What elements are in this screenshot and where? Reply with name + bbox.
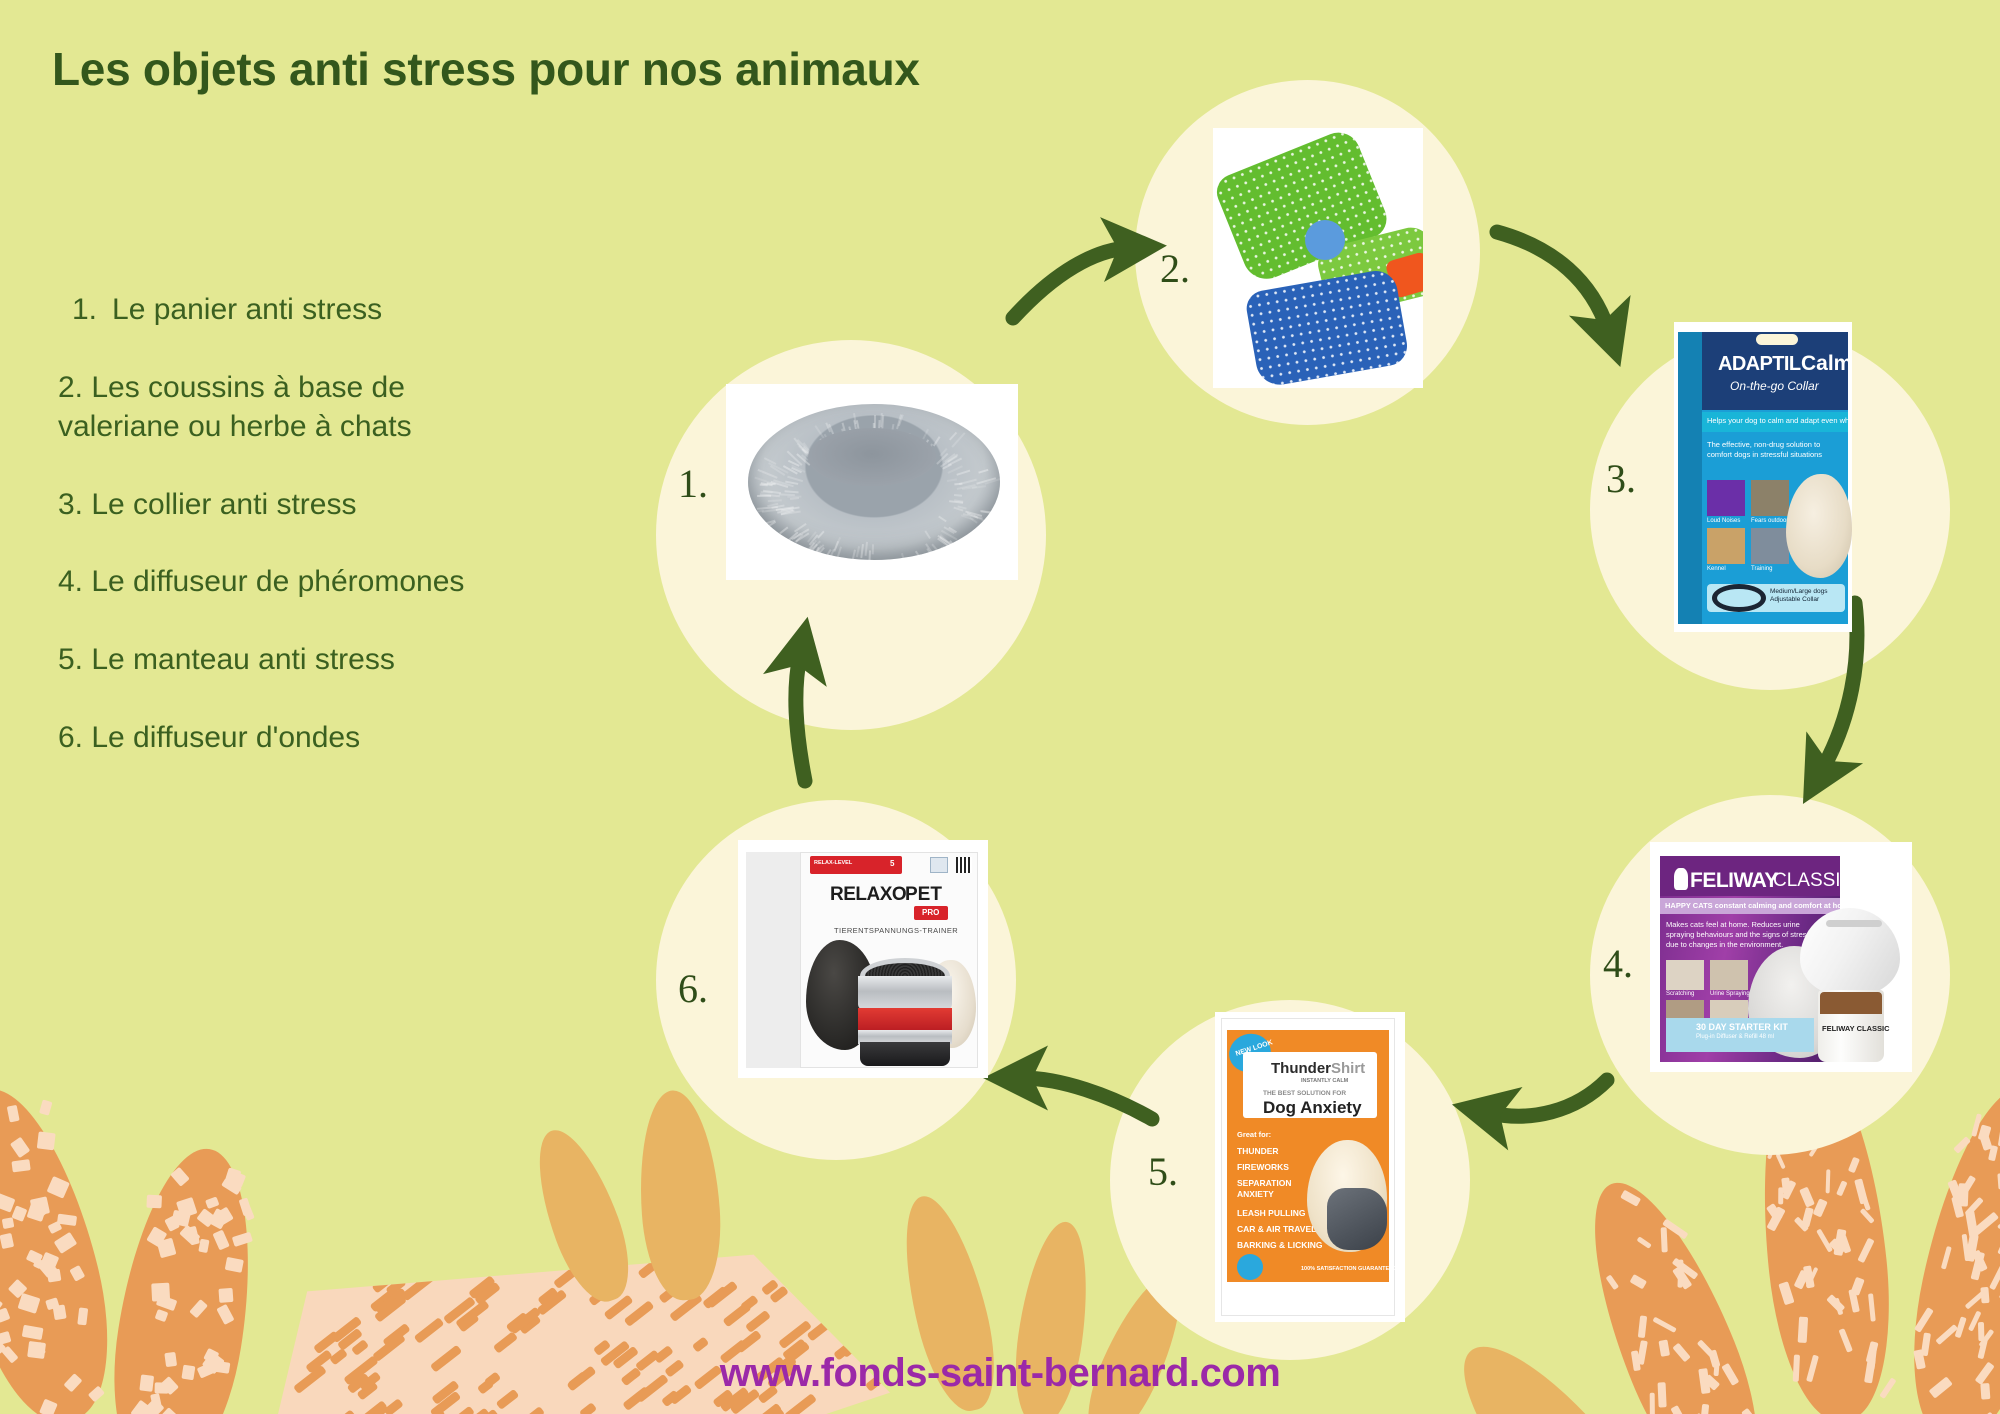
- leaf-speck: [147, 1226, 168, 1248]
- thundershirt-bullet-2: FIREWORKS: [1237, 1162, 1289, 1172]
- leaf-speck: [225, 1257, 244, 1273]
- leaf-speck: [1620, 1190, 1641, 1207]
- thundershirt-vet-badge: [1237, 1254, 1263, 1280]
- dash-mark: [553, 1266, 579, 1289]
- dash-mark: [506, 1312, 530, 1333]
- leaf-speck: [0, 1294, 2, 1316]
- list-item-3: 3. Le collier anti stress: [58, 485, 618, 525]
- leaf-speck: [171, 1209, 190, 1226]
- decorative-foliage-left: [0, 930, 470, 1414]
- relaxopet-speaker-body: [858, 976, 952, 1010]
- list-item-4: 4. Le diffuseur de phéromones: [58, 562, 618, 602]
- dash-mark: [371, 1268, 401, 1294]
- leaf-speck: [1700, 1404, 1709, 1414]
- leaf-speck: [39, 1398, 58, 1414]
- thundershirt-bullet-5: CAR & AIR TRAVEL: [1237, 1224, 1316, 1234]
- leaf-speck: [241, 1204, 254, 1221]
- fur-strand: [905, 557, 911, 571]
- leaf-speck: [1826, 1169, 1831, 1193]
- leaf-speck: [47, 1176, 70, 1198]
- adaptil-thumb-fears: [1751, 480, 1789, 516]
- leaf-speck: [1826, 1294, 1845, 1313]
- relaxopet-brand-relaxo: RELAXO: [830, 884, 906, 906]
- leaf-speck: [48, 1220, 63, 1233]
- dash-mark: [443, 1296, 476, 1324]
- website-url[interactable]: www.fonds-saint-bernard.com: [0, 1351, 2000, 1396]
- relaxopet-variant: PRO: [922, 908, 939, 917]
- dash-mark: [702, 1285, 729, 1309]
- leaf-speck: [1662, 1219, 1689, 1241]
- fur-strand: [981, 510, 999, 515]
- dash-mark: [722, 1301, 751, 1327]
- list-item-5: 5. Le manteau anti stress: [58, 640, 618, 680]
- adaptil-hang-hole: [1756, 334, 1798, 345]
- dash-mark: [277, 1279, 308, 1306]
- leaf-speck: [12, 1159, 31, 1173]
- dash-mark: [538, 1287, 559, 1306]
- adaptil-thumb-loud-noises: [1707, 480, 1745, 516]
- leaf-speck: [8, 1279, 28, 1299]
- dash-mark: [337, 1329, 363, 1352]
- dash-mark: [383, 1399, 404, 1414]
- thundershirt-vest: [1327, 1188, 1387, 1250]
- leaf-speck: [0, 1317, 3, 1333]
- leaf-speck: [1848, 1157, 1860, 1174]
- relaxopet-level-label: RELAX-LEVEL: [814, 860, 852, 866]
- leaf-speck: [1, 1217, 13, 1229]
- leaf-speck: [1801, 1207, 1813, 1227]
- dash-mark: [778, 1320, 812, 1349]
- fur-strand: [864, 542, 867, 556]
- fur-strand: [884, 566, 889, 580]
- leaf-speck: [39, 1259, 58, 1278]
- fur-strand: [818, 530, 826, 538]
- dash-mark: [759, 1403, 782, 1414]
- leaf-speck: [1968, 1311, 1981, 1332]
- leaf-speck: [130, 1400, 153, 1414]
- leaf-speck: [1672, 1257, 1699, 1279]
- fur-strand: [788, 495, 802, 497]
- leaf-speck: [218, 1288, 233, 1303]
- leaf-speck: [1778, 1187, 1783, 1205]
- leaf-speck: [1988, 1145, 1998, 1161]
- leaf-speck: [1965, 1210, 1978, 1238]
- dash-mark: [827, 1265, 857, 1291]
- fur-strand: [954, 494, 962, 497]
- relaxopet-subtitle: TIERENTSPANNUNGS-TRAINER: [834, 926, 958, 935]
- dash-mark: [807, 1316, 837, 1342]
- adaptil-collar-loop: [1712, 584, 1766, 612]
- fur-strand: [947, 478, 957, 482]
- leaf-speck: [1965, 1234, 1978, 1262]
- dash-mark: [603, 1294, 633, 1320]
- thundershirt-bullet-1: THUNDER: [1237, 1146, 1279, 1156]
- dash-mark: [455, 1300, 490, 1330]
- leaf-speck: [197, 1209, 217, 1228]
- fur-strand: [767, 499, 781, 502]
- leaf-speck: [22, 1325, 44, 1340]
- dash-mark: [385, 1277, 406, 1296]
- dash-mark: [324, 1410, 356, 1414]
- leaf-speck: [1767, 1206, 1786, 1231]
- dash-mark: [864, 1400, 881, 1414]
- leaf-speck: [1979, 1134, 1992, 1151]
- adaptil-variant: Calm: [1801, 352, 1852, 376]
- fur-strand: [957, 469, 971, 475]
- relaxopet-brand-pet: PET: [905, 884, 942, 906]
- fur-strand: [933, 436, 940, 446]
- leaf-speck: [176, 1197, 197, 1218]
- thundershirt-guarantee: 100% SATISFACTION GUARANTEED: [1301, 1266, 1397, 1272]
- dash-mark: [761, 1279, 779, 1296]
- leaf-speck: [0, 1193, 15, 1213]
- thundershirt-bullet-6: BARKING & LICKING: [1237, 1240, 1322, 1250]
- leaf-speck: [1829, 1238, 1847, 1256]
- leaf-speck: [18, 1293, 41, 1314]
- dash-mark: [466, 1407, 490, 1414]
- adaptil-box-spine: [1678, 332, 1704, 624]
- dash-mark: [321, 1250, 349, 1275]
- leaf-speck: [1977, 1125, 1991, 1142]
- feliway-variant: CLASSIC: [1773, 870, 1854, 892]
- leaf-speck: [1951, 1196, 1964, 1218]
- leaf-speck: [1859, 1208, 1874, 1224]
- list-item-6: 6. Le diffuseur d'ondes: [58, 718, 618, 758]
- dash-mark: [413, 1317, 444, 1344]
- feliway-banner-text: HAPPY CATS constant calming and comfort …: [1665, 901, 1853, 910]
- leaf-speck: [152, 1283, 171, 1301]
- dash-mark: [509, 1306, 541, 1334]
- leaf-speck: [1971, 1251, 1985, 1280]
- leaf-speck: [53, 1305, 67, 1321]
- leaf-speck: [39, 1100, 52, 1116]
- adaptil-footnote: Medium/Large dogs Adjustable Collar: [1770, 588, 1844, 604]
- leaf-speck: [225, 1167, 242, 1183]
- dash-mark: [382, 1323, 410, 1348]
- leaf-speck: [1964, 1197, 1984, 1218]
- node-4-image: FELIWAY CLASSIC HAPPY CATS constant calm…: [1650, 842, 1912, 1072]
- dash-mark: [706, 1280, 739, 1308]
- dash-mark: [789, 1251, 817, 1276]
- dash-mark: [417, 1408, 446, 1414]
- adaptil-thumb-label-1: Loud Noises: [1707, 518, 1740, 524]
- node-3-number: 3.: [1606, 455, 1636, 502]
- node-5-number: 5.: [1148, 1148, 1178, 1195]
- dash-mark: [537, 1289, 568, 1316]
- node-5-image: NEW LOOK Thunder Shirt INSTANTLY CALM TH…: [1215, 1012, 1405, 1322]
- leaf-speck: [7, 1105, 20, 1123]
- node-6-number: 6.: [678, 965, 708, 1012]
- leaf-speck: [33, 1258, 44, 1270]
- arrow-4-to-5: [1490, 1080, 1607, 1116]
- list-item-1: 1. Le panier anti stress: [58, 290, 618, 330]
- leaf-speck: [231, 1231, 252, 1246]
- leaf-speck: [1972, 1113, 1983, 1137]
- leaf-speck: [187, 1226, 200, 1245]
- leaf-speck: [26, 1250, 43, 1265]
- page-title: Les objets anti stress pour nos animaux: [52, 42, 920, 96]
- feliway-thumb-urine-spraying: [1710, 960, 1748, 990]
- adaptil-thumb-kennel: [1707, 528, 1745, 564]
- adaptil-dog-photo: [1786, 474, 1852, 578]
- leaf-speck: [1914, 1307, 1934, 1333]
- feliway-brand: FELIWAY: [1690, 869, 1778, 893]
- leaf-speck: [1979, 1329, 1995, 1348]
- dash-mark: [374, 1294, 407, 1322]
- leaf-speck: [0, 1233, 15, 1249]
- dash-mark: [474, 1281, 501, 1305]
- leaf-speck: [0, 1331, 11, 1346]
- adaptil-brand: ADAPTIL: [1718, 353, 1800, 376]
- dash-mark: [588, 1277, 622, 1307]
- dash-mark: [692, 1336, 709, 1352]
- leaf-speck: [10, 1137, 30, 1158]
- leaf-speck: [12, 1205, 28, 1221]
- dash-mark: [831, 1242, 863, 1270]
- leaf-speck: [26, 1202, 46, 1222]
- dash-mark: [843, 1289, 876, 1317]
- thundershirt-brand-shirt: Shirt: [1331, 1060, 1365, 1077]
- thundershirt-brand-thunder: Thunder: [1271, 1060, 1331, 1077]
- node-4-number: 4.: [1603, 940, 1633, 987]
- leaf-speck: [222, 1178, 243, 1196]
- fur-strand: [872, 544, 874, 554]
- leaf-speck: [1836, 1181, 1848, 1197]
- leaf-speck: [1806, 1267, 1819, 1289]
- relaxopet-level-value: 5: [890, 859, 894, 868]
- dash-mark: [402, 1272, 437, 1302]
- node-2-number: 2.: [1160, 245, 1190, 292]
- relaxopet-speaker-red-band: [858, 1008, 952, 1032]
- node-1-number: 1.: [678, 460, 708, 507]
- leaf-speck: [57, 1214, 77, 1227]
- leaf-speck: [1794, 1269, 1810, 1289]
- leaf-speck: [208, 1208, 229, 1230]
- thundershirt-eyebrow: THE BEST SOLUTION FOR: [1263, 1090, 1346, 1097]
- leaf-speck: [212, 1230, 229, 1251]
- leaf-speck: [1637, 1236, 1652, 1249]
- leaf-speck: [205, 1197, 220, 1210]
- fur-strand: [939, 516, 947, 522]
- feliway-vial-label: FELIWAY CLASSIC: [1822, 1024, 1890, 1033]
- leaf-speck: [69, 1265, 84, 1281]
- leaf-speck: [1956, 1175, 1976, 1202]
- dash-mark: [458, 1313, 480, 1333]
- feliway-vial-liquid: [1820, 992, 1882, 1014]
- fur-strand: [851, 550, 856, 564]
- leaf-speck: [1661, 1227, 1668, 1253]
- leaf-speck: [1672, 1265, 1692, 1289]
- adaptil-thumb-training: [1751, 528, 1789, 564]
- relaxopet-box-side: [746, 852, 802, 1068]
- node-6-image: RELAX-LEVEL 5 RELAXO PET PRO TIERENTSPAN…: [738, 840, 988, 1078]
- anti-stress-items-list: 1. Le panier anti stress 2. Les coussins…: [58, 290, 618, 795]
- relaxopet-tuv-icon: [930, 857, 948, 873]
- thundershirt-headline: Dog Anxiety: [1263, 1098, 1362, 1118]
- leaf-speck: [217, 1304, 235, 1325]
- leaf-speck: [1849, 1289, 1861, 1313]
- leaf-speck: [1816, 1228, 1833, 1253]
- leaf-speck: [1742, 1408, 1764, 1414]
- dash-mark: [659, 1279, 687, 1304]
- leaf-speck: [1794, 1216, 1809, 1231]
- thundershirt-tagline: INSTANTLY CALM: [1301, 1078, 1348, 1084]
- adaptil-thumb-label-2: Fears outdoors: [1751, 518, 1791, 524]
- leaf-speck: [1638, 1315, 1647, 1337]
- leaf-speck: [1868, 1293, 1876, 1321]
- dash-mark: [357, 1408, 382, 1414]
- leaf-speck: [1766, 1203, 1783, 1222]
- feliway-thumb-label-1: Scratching: [1666, 991, 1694, 997]
- adaptil-banner-text: Helps your dog to calm and adapt even wh…: [1707, 416, 1852, 425]
- leaf-speck: [1779, 1281, 1795, 1305]
- dash-mark: [331, 1316, 363, 1344]
- leaf-speck: [1629, 1274, 1647, 1290]
- leaf-speck: [40, 1252, 60, 1271]
- fur-strand: [867, 560, 870, 578]
- dash-mark: [832, 1266, 850, 1283]
- dash-mark: [519, 1406, 545, 1414]
- feliway-cat-logo-icon: [1674, 868, 1688, 890]
- leaf-speck: [164, 1215, 179, 1231]
- relaxopet-speaker-base: [860, 1042, 950, 1066]
- leaf-speck: [156, 1238, 176, 1259]
- leaf-speck: [158, 1407, 182, 1414]
- leaf-speck: [199, 1239, 211, 1254]
- leaf-speck: [1972, 1249, 1988, 1272]
- dash-mark: [769, 1285, 789, 1303]
- dash-mark: [355, 1402, 389, 1414]
- node-2-image: [1213, 128, 1423, 388]
- dash-mark: [284, 1274, 307, 1294]
- leaf-speck: [1839, 1328, 1854, 1353]
- list-item-2: 2. Les coussins à base de valeriane ou h…: [58, 368, 618, 447]
- node-1-image: [726, 384, 1018, 580]
- dog-bed-inner: [808, 428, 936, 486]
- leaf-speck: [37, 1131, 56, 1150]
- leaf-speck: [190, 1299, 209, 1319]
- adaptil-thumb-label-3: Kennel: [1707, 566, 1726, 572]
- leaf-speck: [147, 1195, 163, 1209]
- dash-mark: [519, 1314, 542, 1335]
- leaf-speck: [30, 1196, 50, 1216]
- fur-strand: [860, 544, 864, 558]
- dash-mark: [370, 1286, 400, 1312]
- fur-strand: [953, 483, 962, 486]
- fur-strand: [779, 527, 788, 535]
- leaf-speck: [1953, 1136, 1971, 1154]
- feliway-kit-label: 30 DAY STARTER KIT: [1696, 1022, 1788, 1032]
- adaptil-subtitle: On-the-go Collar: [1730, 379, 1819, 393]
- leaf-speck: [1861, 1194, 1871, 1211]
- feliway-thumb-label-2: Urine Spraying: [1710, 991, 1750, 997]
- cushion-blue: [1244, 268, 1410, 388]
- dash-mark: [447, 1248, 475, 1273]
- leaf-speck: [0, 1307, 10, 1323]
- adaptil-body-text: The effective, non-drug solution to comf…: [1707, 440, 1839, 460]
- leaf-speck: [229, 1171, 246, 1188]
- cushion-blue-knot: [1305, 220, 1345, 260]
- leaf-speck: [1954, 1317, 1966, 1339]
- dash-mark: [811, 1265, 839, 1290]
- leaf-speck: [1978, 1322, 1984, 1341]
- fur-strand: [979, 469, 989, 474]
- leaf-shape: [520, 1120, 644, 1312]
- leaf-speck: [77, 1307, 87, 1325]
- leaf-speck: [1652, 1317, 1676, 1333]
- leaf-speck: [1981, 1287, 1990, 1303]
- dash-mark: [623, 1300, 654, 1327]
- dash-mark: [375, 1287, 407, 1315]
- feliway-thumb-scratching: [1666, 960, 1704, 990]
- fur-strand: [922, 428, 929, 439]
- dash-mark: [579, 1402, 598, 1414]
- arrow-2-to-3: [1497, 232, 1608, 330]
- leaf-speck: [1957, 1183, 1968, 1206]
- leaf-speck: [1964, 1288, 1988, 1310]
- dash-mark: [740, 1295, 759, 1312]
- leaf-speck: [0, 1308, 7, 1331]
- dash-mark: [760, 1407, 785, 1414]
- leaf-speck: [1781, 1177, 1791, 1194]
- dash-mark: [637, 1254, 666, 1280]
- dash-mark: [784, 1393, 817, 1414]
- feliway-kit-sub: Plug-in Diffuser & Refill 48 ml: [1696, 1034, 1774, 1040]
- fur-strand: [924, 530, 931, 539]
- leaf-speck: [170, 1167, 190, 1187]
- leaf-speck: [154, 1309, 168, 1322]
- node-3-image: ADAPTIL Calm On-the-go Collar Helps your…: [1674, 322, 1852, 632]
- leaf-speck: [1833, 1228, 1846, 1255]
- leaf-speck: [1851, 1277, 1865, 1296]
- leaf-speck: [238, 1198, 252, 1217]
- dash-mark: [472, 1409, 499, 1414]
- leaf-speck: [1834, 1298, 1844, 1316]
- dash-mark: [353, 1253, 380, 1277]
- leaf-speck: [1671, 1405, 1691, 1414]
- leaf-speck: [1855, 1178, 1869, 1204]
- leaf-speck: [1857, 1237, 1874, 1263]
- leaf-speck: [1605, 1275, 1618, 1290]
- leaf-speck: [1782, 1180, 1796, 1200]
- leaf-speck: [1803, 1266, 1815, 1289]
- dash-mark: [669, 1293, 703, 1322]
- arrow-1-to-2: [1013, 248, 1128, 318]
- feliway-diffuser-vent: [1826, 920, 1882, 927]
- dash-mark: [745, 1310, 771, 1333]
- thundershirt-bullet-4: LEASH PULLING: [1237, 1208, 1305, 1218]
- thundershirt-great-for: Great for:: [1237, 1130, 1271, 1139]
- leaf-speck: [47, 1268, 61, 1281]
- leaf-speck: [215, 1207, 234, 1227]
- leaf-speck: [1936, 1324, 1958, 1345]
- leaf-speck: [1941, 1246, 1952, 1270]
- leaf-speck: [179, 1225, 200, 1246]
- leaf-speck: [1798, 1317, 1808, 1344]
- leaf-speck: [142, 1398, 165, 1414]
- leaf-speck: [1989, 1263, 2000, 1291]
- dash-mark: [813, 1288, 841, 1313]
- fur-strand: [949, 432, 957, 440]
- leaf-speck: [1948, 1179, 1962, 1198]
- leaf-speck: [1799, 1186, 1814, 1207]
- leaf-speck: [1812, 1198, 1827, 1217]
- leaf-speck: [1972, 1212, 1998, 1236]
- leaf-speck: [156, 1295, 177, 1312]
- leaf-speck: [1839, 1234, 1852, 1253]
- leaf-speck: [54, 1232, 78, 1254]
- leaf-speck: [32, 1198, 50, 1217]
